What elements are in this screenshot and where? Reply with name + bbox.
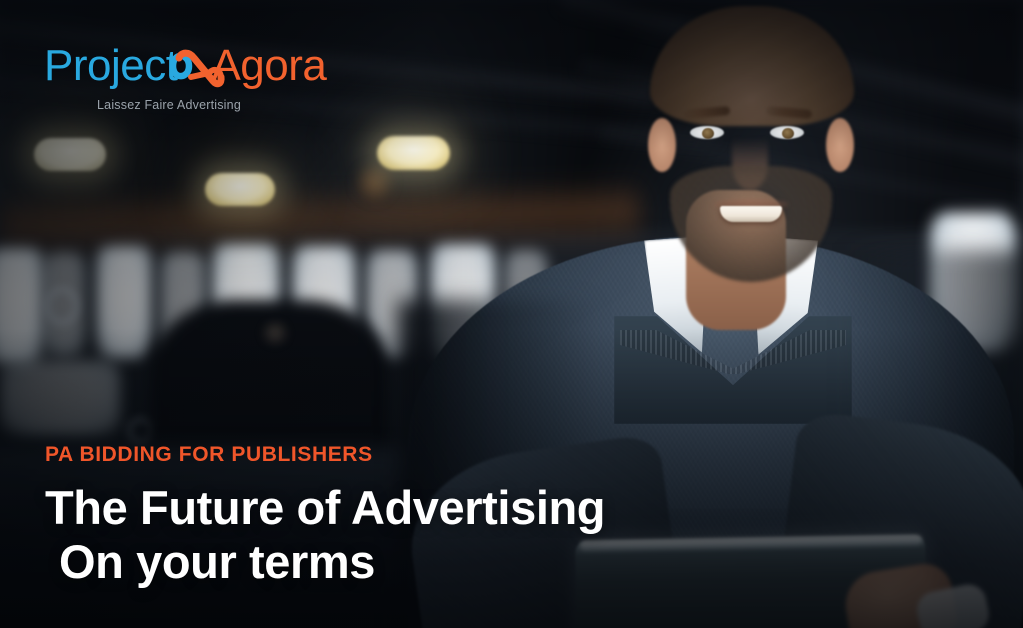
window-light <box>0 248 44 364</box>
eyebrow-text: PA BIDDING FOR PUBLISHERS <box>45 443 665 467</box>
brand-logo[interactable]: Project Agora Laissez Faire Advertising <box>44 38 334 112</box>
headline-text: The Future of Advertising On your terms <box>45 481 665 590</box>
headline-line-2: On your terms <box>45 535 665 590</box>
logo-wordmark: Project Agora <box>44 38 334 94</box>
smile-teeth <box>720 206 782 222</box>
hair <box>650 6 854 126</box>
logo-text-agora: Agora <box>211 44 326 88</box>
headline-line-1: The Future of Advertising <box>45 481 605 534</box>
window-light <box>0 360 120 436</box>
iris-right <box>782 128 794 139</box>
ceiling-lamp <box>205 173 275 206</box>
marketing-banner: Project Agora Laissez Faire Advertising … <box>0 0 1023 628</box>
headline-block: PA BIDDING FOR PUBLISHERS The Future of … <box>45 443 665 590</box>
logo-text-project: Project <box>44 44 177 88</box>
iris-left <box>702 128 714 139</box>
window-light <box>96 246 152 358</box>
chair-highlight <box>258 320 292 346</box>
brand-tagline: Laissez Faire Advertising <box>44 98 294 112</box>
hair-texture <box>650 6 854 126</box>
bokeh-ring <box>44 286 80 326</box>
ceiling-lamp <box>34 138 106 171</box>
